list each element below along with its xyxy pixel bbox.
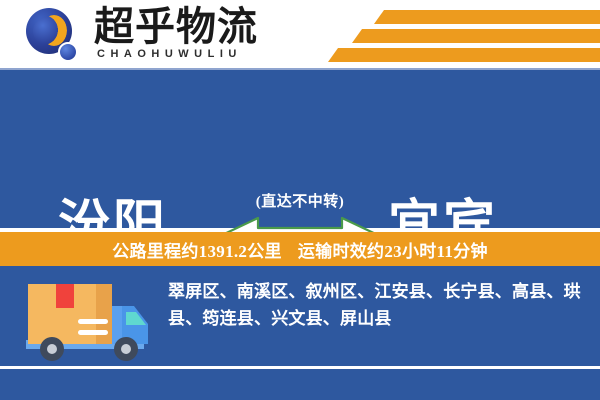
direct-route-note: (直达不中转) <box>0 190 600 211</box>
stripe-bottom <box>328 48 600 62</box>
delivery-truck-icon <box>22 276 154 368</box>
coverage-panel: 翠屏区、南溪区、叙州区、江安县、长宁县、高县、珙县、筠连县、兴文县、屏山县 <box>0 266 600 400</box>
route-info-bar: 公路里程约1391.2公里 运输时效约23小时11分钟 <box>0 232 600 266</box>
stripe-top <box>374 10 600 24</box>
brand-name-pinyin: CHAOHUWULIU <box>97 48 242 60</box>
banner-header: 超乎物流 CHAOHUWULIU <box>0 0 600 70</box>
brand-name-chinese: 超乎物流 <box>94 6 258 48</box>
road-divider-line <box>0 366 600 369</box>
coverage-districts-label: 翠屏区、南溪区、叙州区、江安县、长宁县、高县、珙县、筠连县、兴文县、屏山县 <box>168 278 582 332</box>
duration-label: 运输时效约23小时11分钟 <box>298 237 488 262</box>
speed-stripes-icon <box>310 8 600 64</box>
circle-crescent-logo-icon <box>24 8 84 66</box>
stripe-middle <box>352 29 600 43</box>
logo-accent-dot <box>58 42 78 62</box>
distance-label: 公路里程约1391.2公里 <box>112 237 282 262</box>
logo-crescent-shape <box>41 15 67 46</box>
logistics-route-banner: 超乎物流 CHAOHUWULIU 汾阳 (直达不中转) 【往返运输】 宜宾 公路… <box>0 0 600 400</box>
route-panel: 汾阳 (直达不中转) 【往返运输】 宜宾 <box>0 70 600 228</box>
